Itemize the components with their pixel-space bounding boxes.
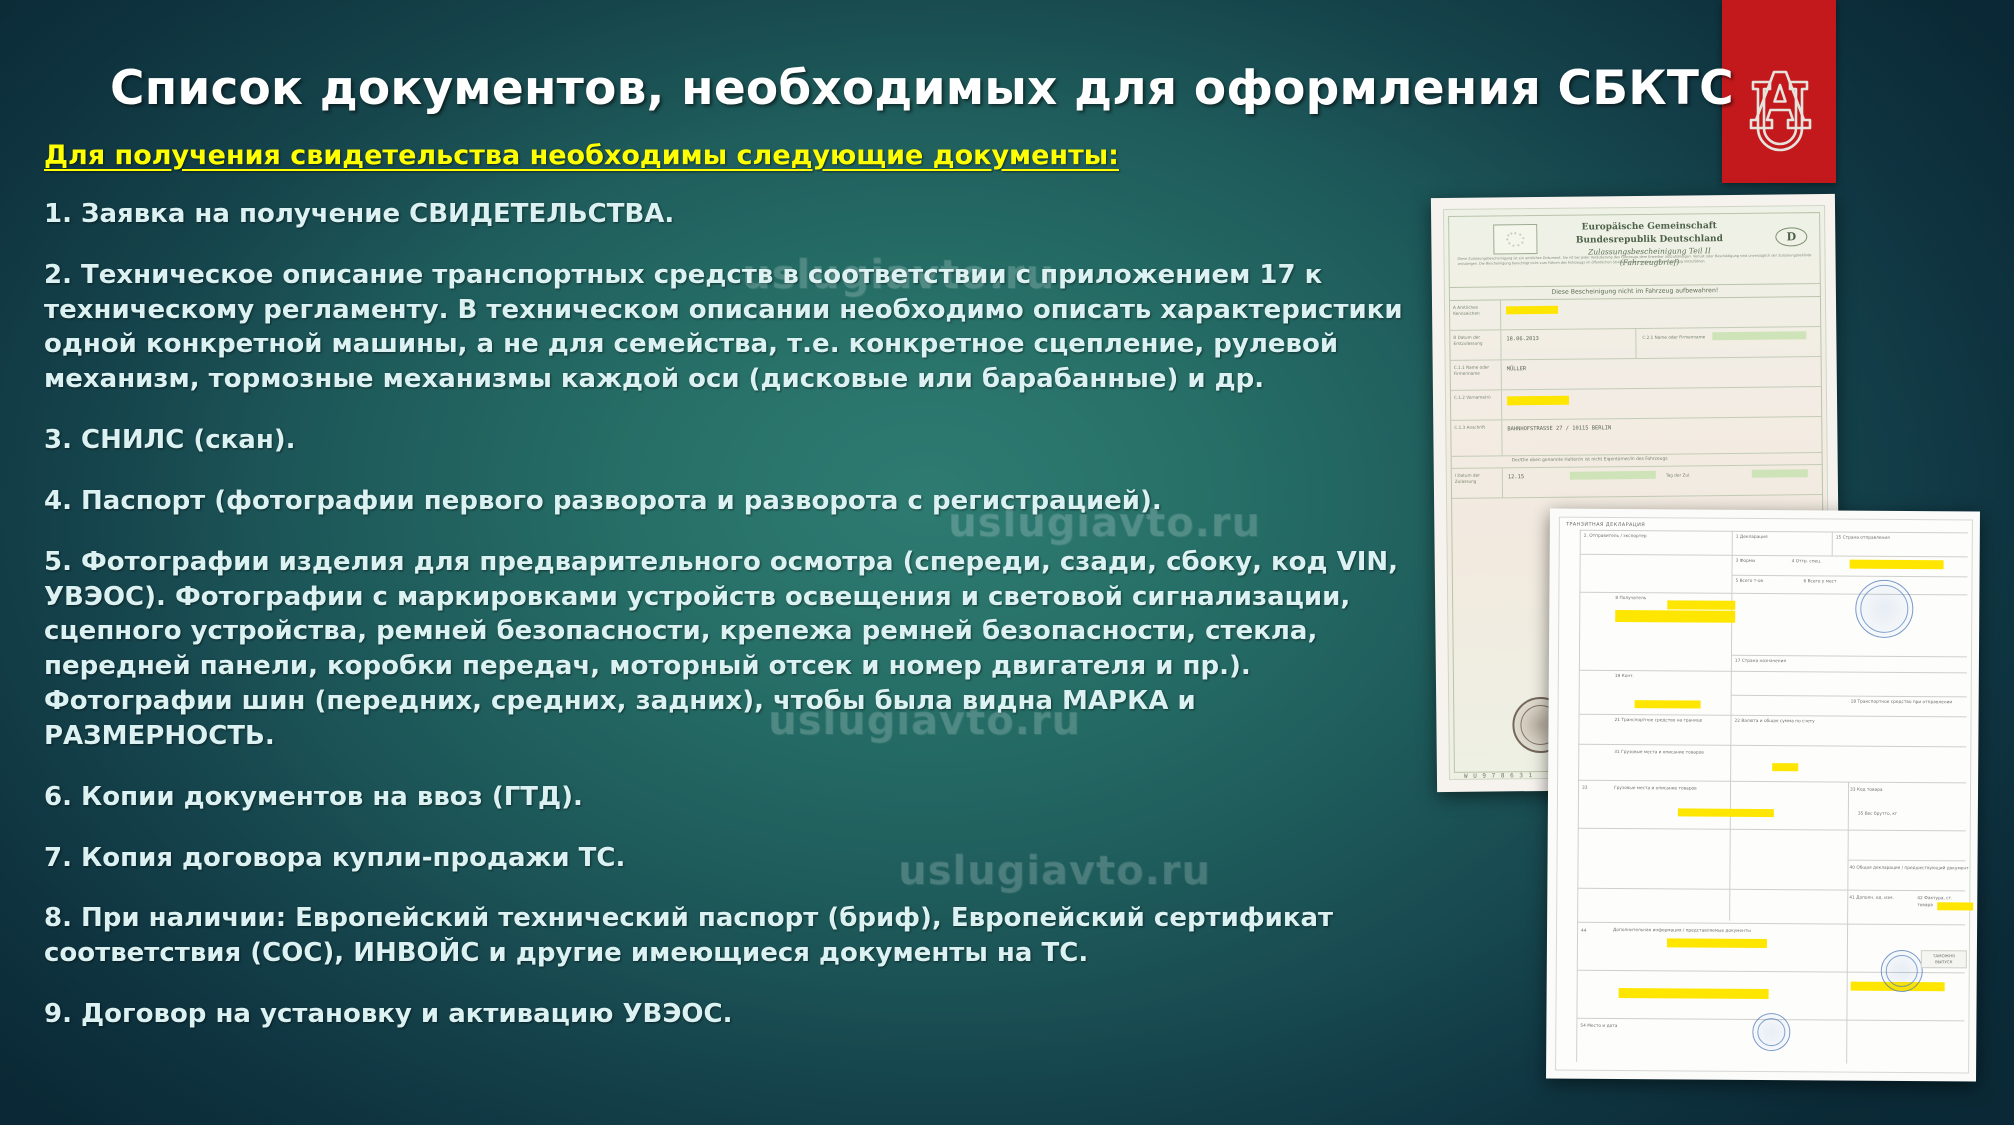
- doc1-field-row: I Datum der Zulassung 12.15 Tag der Zul.: [1452, 465, 1822, 499]
- doc2-field-label: 22 Валюта и общая сумма по счету: [1734, 719, 1844, 726]
- doc2-field-label: 1 Декларация: [1736, 535, 1768, 542]
- lead-paragraph: Для получения свидетельства необходимы с…: [44, 140, 1434, 171]
- doc2-field-label: 44: [1581, 928, 1609, 935]
- blue-round-customs-stamp-small: [1881, 950, 1923, 992]
- doc2-field-label: 33: [1582, 786, 1608, 793]
- doc2-field-label: 54 Место и дата: [1580, 1024, 1730, 1032]
- redaction-block: [1635, 700, 1701, 708]
- redaction-block: [1667, 938, 1767, 948]
- doc1-field-row: C.1.2 Vorname(n): [1451, 387, 1821, 421]
- redaction-block: [1772, 763, 1798, 771]
- doc1-field-row: B Datum der Erstzulassung 18.06.2013 C.2…: [1450, 327, 1820, 361]
- list-item: 2. Техническое описание транспортных сре…: [44, 258, 1434, 397]
- doc1-field-row: C.1.1 Name oder Firmenname MÜLLER: [1451, 357, 1821, 391]
- doc2-field-label: 5 Всего т-ов: [1735, 579, 1763, 586]
- blue-round-customs-stamp-small: [1752, 1013, 1790, 1051]
- country-code-badge: D: [1775, 227, 1807, 246]
- doc2-header: ТРАНЗИТНАЯ ДЕКЛАРАЦИЯ: [1566, 522, 1645, 529]
- doc2-field-label: 40 Общая декларация / предшествующий док…: [1849, 866, 1980, 874]
- doc2-side-tab: ТАМОЖНЯВЫПУСК: [1921, 950, 1967, 968]
- doc2-field-label: 2. Отправитель / экспортер: [1584, 534, 1724, 542]
- redaction-block: [1850, 560, 1944, 570]
- doc1-field-row: A Amtliches Kennzeichen: [1450, 297, 1820, 331]
- redaction-block: [1678, 808, 1774, 817]
- redaction-block: [1937, 902, 1973, 910]
- au-monogram-logo: [1744, 68, 1816, 160]
- doc2-field-label: 6 Всего у мест: [1803, 579, 1836, 586]
- doc2-field-label: 8 Получатель: [1615, 596, 1646, 603]
- list-item: 5. Фотографии изделия для предварительно…: [44, 545, 1434, 754]
- document-list-body: Для получения свидетельства необходимы с…: [44, 140, 1434, 1058]
- blue-round-customs-stamp: [1855, 580, 1913, 638]
- doc2-field-label: 21 Транспортное средство на границе: [1614, 718, 1726, 725]
- redaction-block: [1619, 988, 1769, 999]
- doc2-field-label: 15 Страна отправления: [1836, 536, 1890, 543]
- list-item: 8. При наличии: Европейский технический …: [44, 901, 1434, 971]
- eu-flag-icon: [1493, 224, 1537, 254]
- doc2-field-label: 33 Код товара: [1850, 788, 1883, 795]
- doc2-field-label: 19 Конт.: [1615, 674, 1725, 681]
- list-item: 3. СНИЛС (скан).: [44, 423, 1434, 458]
- presentation-slide: Список документов, необходимых для оформ…: [0, 0, 2014, 1125]
- redaction-block: [1615, 610, 1735, 623]
- list-item: 9. Договор на установку и активацию УВЭО…: [44, 997, 1434, 1032]
- doc2-field-label: 41 Дополн. ед. изм.: [1849, 896, 1894, 903]
- list-item: 4. Паспорт (фотографии первого разворота…: [44, 484, 1434, 519]
- doc2-field-label: 17 Страна назначения: [1735, 659, 1845, 666]
- redaction-block: [1667, 600, 1735, 609]
- list-item: 7. Копия договора купли-продажи ТС.: [44, 841, 1434, 876]
- doc2-field-label: 35 Вес брутто, кг: [1858, 812, 1897, 819]
- doc2-field-label: 18 Транспортное средство при отправлении: [1851, 700, 1961, 707]
- doc1-field-row: C.1.3 Anschrift BAHNHOFSTRASSE 27 / 1011…: [1451, 417, 1821, 457]
- russian-customs-declaration-image: ТРАНЗИТНАЯ ДЕКЛАРАЦИЯ: [1546, 509, 1980, 1082]
- lead-text: Для получения свидетельства необходимы с…: [44, 140, 1119, 171]
- doc1-serial-number: W U 9 7 8 6 3 1: [1464, 772, 1533, 780]
- list-item: 6. Копии документов на ввоз (ГТД).: [44, 780, 1434, 815]
- doc2-field-label: 3 Формы: [1736, 559, 1756, 566]
- page-title: Список документов, необходимых для оформ…: [110, 63, 1670, 116]
- doc1-fine-print: Diese Zulassungsbescheinigung ist ein am…: [1458, 253, 1812, 268]
- list-item: 1. Заявка на получение СВИДЕТЕЛЬСТВА.: [44, 197, 1434, 232]
- doc2-field-label: Дополнительная информация / представляем…: [1613, 928, 1823, 936]
- doc2-field-label: 31 Грузовые места и описание товаров: [1614, 750, 1724, 757]
- doc2-field-label: 4 Отгр. спец.: [1792, 559, 1822, 566]
- doc2-field-label: Грузовые места и описание товаров: [1614, 786, 1764, 794]
